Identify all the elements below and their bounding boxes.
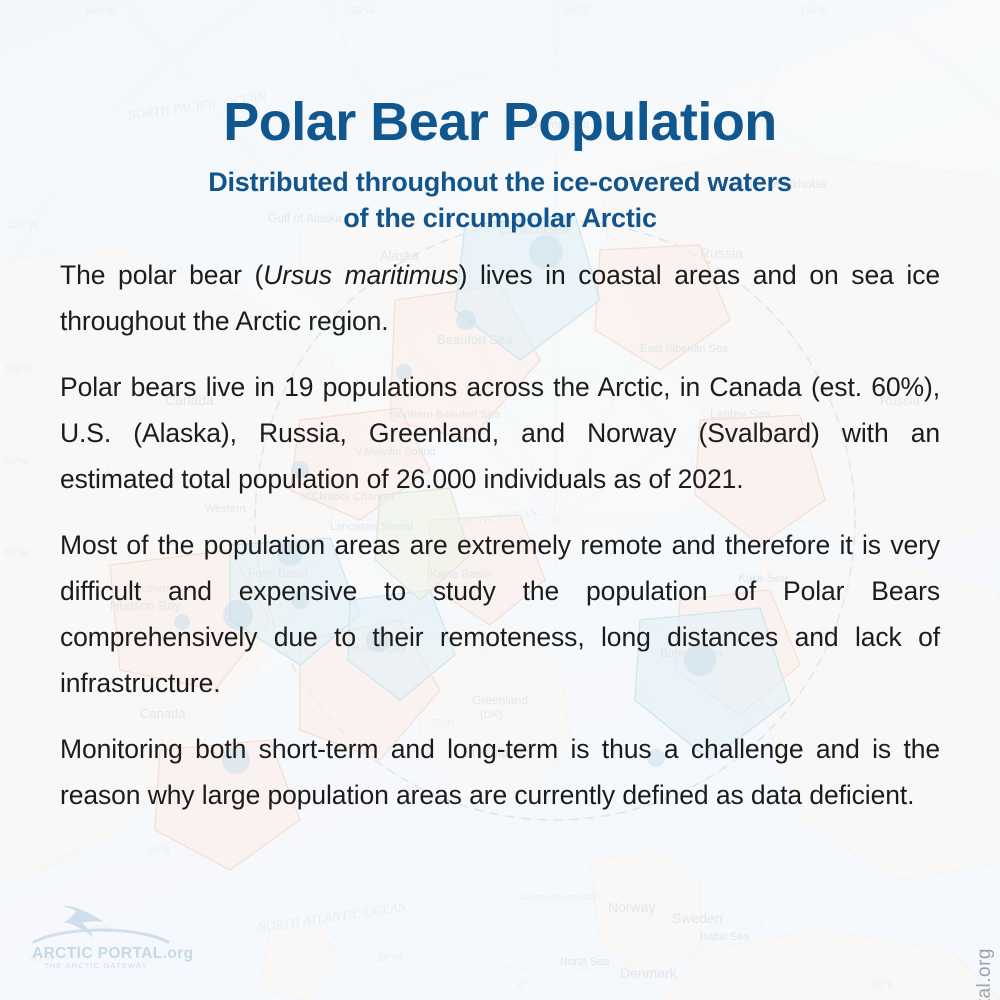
species-scientific-name: Ursus maritimus — [263, 260, 458, 290]
logo-tagline: THE ARCTIC GATEWAY — [44, 961, 148, 970]
arctic-portal-logo-svg: ARCTIC PORTAL.org THE ARCTIC GATEWAY — [30, 902, 200, 970]
paragraph-4: Monitoring both short-term and long-term… — [60, 726, 940, 818]
copyright-notice: ©Arctic Portal.org — [974, 948, 996, 1000]
infographic-poster: NORTH PACIFIC OCEANARCTIC OCEANNORTH ATL… — [0, 0, 1000, 1000]
poster-content: Polar Bear Population Distributed throug… — [0, 0, 1000, 1000]
subtitle-line-1: Distributed throughout the ice-covered w… — [208, 167, 792, 197]
logo-wordmark: ARCTIC PORTAL.org — [32, 945, 194, 962]
paragraph-2: Polar bears live in 19 populations acros… — [60, 364, 940, 502]
page-subtitle: Distributed throughout the ice-covered w… — [0, 165, 1000, 237]
body-text-block: The polar bear (Ursus maritimus) lives i… — [60, 252, 940, 818]
page-title: Polar Bear Population — [0, 94, 1000, 151]
paragraph-1: The polar bear (Ursus maritimus) lives i… — [60, 252, 940, 344]
globe-arc-icon — [34, 930, 168, 942]
paragraph-1-lead: The polar bear ( — [60, 260, 263, 290]
subtitle-line-2: of the circumpolar Arctic — [343, 203, 657, 233]
arctic-portal-logo[interactable]: ARCTIC PORTAL.org THE ARCTIC GATEWAY — [30, 902, 200, 970]
paragraph-3: Most of the population areas are extreme… — [60, 522, 940, 706]
